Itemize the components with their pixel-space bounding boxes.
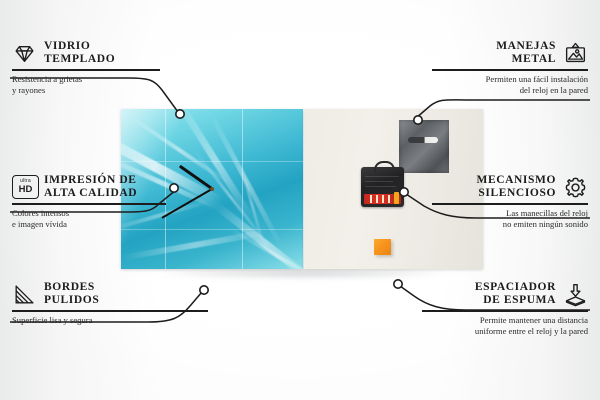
callout-description: Colores intensos e imagen vívida <box>12 208 168 230</box>
battery-knob <box>394 192 399 204</box>
diamond-icon <box>12 41 37 66</box>
metal-hanger-plate <box>399 120 449 173</box>
callout-espaciador-espuma: ESPACIADOR DE ESPUMA Permite mantener un… <box>420 281 588 337</box>
polished-edges-icon <box>12 282 37 307</box>
clock-mechanism-box <box>361 167 404 207</box>
callout-rule <box>12 203 166 205</box>
callout-rule <box>12 69 160 71</box>
callout-description: Resistencia a grietas y rayones <box>12 74 162 96</box>
foam-spacer-icon <box>563 282 588 307</box>
ultra-hd-icon: ultra HD <box>12 175 37 200</box>
callout-title: ESPACIADOR DE ESPUMA <box>475 281 556 307</box>
gear-icon <box>563 175 588 200</box>
product-image <box>121 109 483 273</box>
callout-description: Permite mantener una distancia uniforme … <box>420 315 588 337</box>
ultra-hd-icon-small-text: ultra <box>20 179 31 184</box>
callout-rule <box>432 203 588 205</box>
callout-rule <box>422 310 588 312</box>
battery-compartment <box>364 194 401 204</box>
infographic-canvas: VIDRIO TEMPLADO Resistencia a grietas y … <box>0 0 600 400</box>
hanger-slot <box>408 137 438 143</box>
callout-bordes-pulidos: BORDES PULIDOS Superficie lisa y segura <box>12 281 154 326</box>
foam-spacer-sample <box>374 239 391 255</box>
callout-description: Las manecillas del reloj no emiten ningú… <box>430 208 588 230</box>
callout-title: MANEJAS METAL <box>496 40 556 66</box>
connector-dot-bordes <box>200 286 208 294</box>
callout-description: Permiten una fácil instalación del reloj… <box>430 74 588 96</box>
clock-center-pin <box>210 187 214 191</box>
mechanism-hanging-loop <box>374 161 395 172</box>
ultra-hd-icon-large-text: HD <box>19 185 33 195</box>
callout-title: BORDES PULIDOS <box>44 281 99 307</box>
callout-rule <box>432 69 588 71</box>
callout-title: IMPRESIÓN DE ALTA CALIDAD <box>44 174 137 200</box>
callout-impresion-alta-calidad: ultra HD IMPRESIÓN DE ALTA CALIDAD Color… <box>12 174 168 230</box>
picture-frame-hanger-icon <box>563 41 588 66</box>
callout-description: Superficie lisa y segura <box>12 315 154 326</box>
callout-title: MECANISMO SILENCIOSO <box>476 174 556 200</box>
callout-vidrio-templado: VIDRIO TEMPLADO Resistencia a grietas y … <box>12 40 162 96</box>
callout-rule <box>12 310 208 312</box>
callout-manejas-metal: MANEJAS METAL Permiten una fácil instala… <box>430 40 588 96</box>
callout-mecanismo-silencioso: MECANISMO SILENCIOSO Las manecillas del … <box>430 174 588 230</box>
callout-title: VIDRIO TEMPLADO <box>44 40 115 66</box>
